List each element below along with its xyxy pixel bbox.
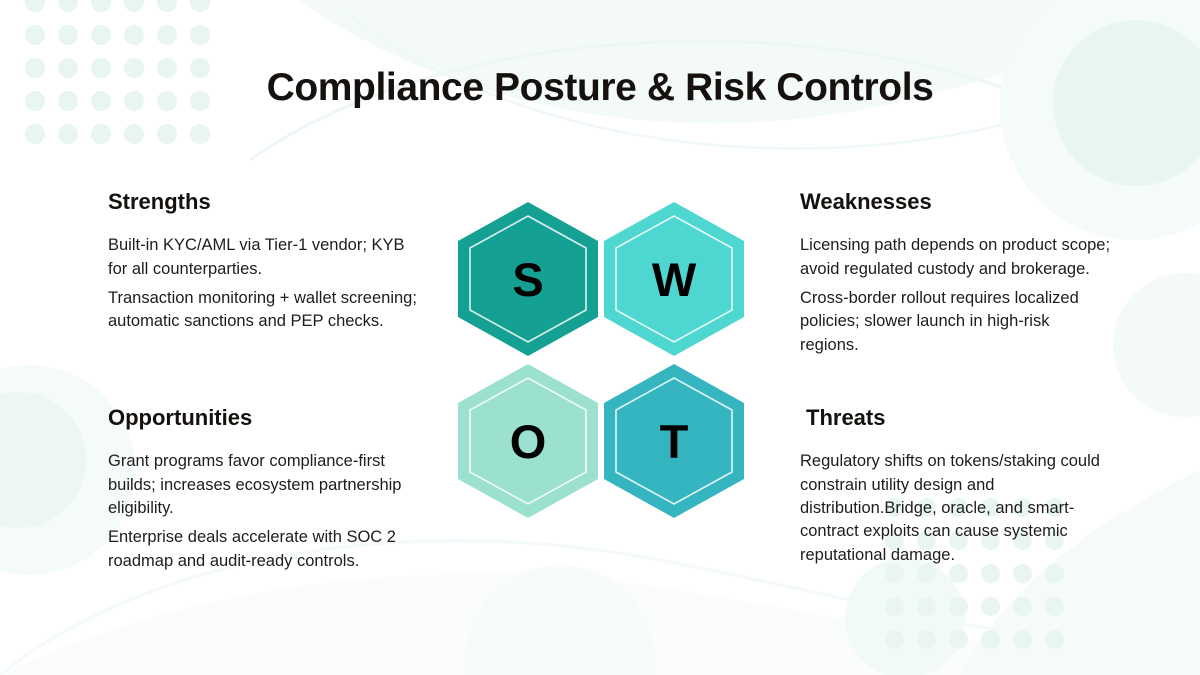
- decor-dot: [981, 630, 1000, 649]
- hexagon-weaknesses[interactable]: W: [601, 200, 747, 358]
- decor-dot: [124, 124, 144, 144]
- decor-dot: [1045, 597, 1064, 616]
- quadrant-text-threats-1: Regulatory shifts on tokens/staking coul…: [800, 450, 1112, 567]
- quadrant-strengths: Strengths Built-in KYC/AML via Tier-1 ve…: [108, 190, 420, 334]
- decor-dot: [25, 124, 45, 144]
- decor-dot: [917, 630, 936, 649]
- hexagon-letter-weaknesses: W: [601, 200, 747, 358]
- page-title: Compliance Posture & Risk Controls: [0, 66, 1200, 110]
- hexagon-letter-strengths: S: [455, 200, 601, 358]
- decor-dot: [58, 124, 78, 144]
- decor-dot: [91, 25, 111, 45]
- decor-dot: [91, 124, 111, 144]
- decor-dot: [25, 25, 45, 45]
- quadrant-opportunities: Opportunities Grant programs favor compl…: [108, 406, 433, 573]
- quadrant-weaknesses: Weaknesses Licensing path depends on pro…: [800, 190, 1112, 357]
- decor-dot: [58, 25, 78, 45]
- quadrant-heading-opportunities: Opportunities: [108, 406, 433, 430]
- decor-dot: [885, 630, 904, 649]
- decor-dot: [190, 0, 210, 12]
- quadrant-text-opportunities-1: Grant programs favor compliance-first bu…: [108, 450, 433, 520]
- quadrant-text-strengths-2: Transaction monitoring + wallet screenin…: [108, 287, 420, 334]
- decor-circle-bottom-center: [465, 565, 655, 675]
- decor-dot: [1013, 630, 1032, 649]
- hexagon-opportunities[interactable]: O: [455, 362, 601, 520]
- decor-dot: [190, 124, 210, 144]
- quadrant-text-strengths-1: Built-in KYC/AML via Tier-1 vendor; KYB …: [108, 234, 420, 281]
- swot-hexagon-cluster: S W O T: [455, 200, 747, 520]
- decor-dot: [917, 597, 936, 616]
- decor-dot: [949, 597, 968, 616]
- hexagon-threats[interactable]: T: [601, 362, 747, 520]
- quadrant-threats: Threats Regulatory shifts on tokens/stak…: [800, 406, 1112, 567]
- quadrant-text-opportunities-2: Enterprise deals accelerate with SOC 2 r…: [108, 526, 433, 573]
- quadrant-heading-threats: Threats: [806, 406, 1112, 430]
- decor-dot: [1013, 597, 1032, 616]
- decor-dot: [157, 0, 177, 12]
- decor-dot: [981, 597, 1000, 616]
- decor-dot: [949, 630, 968, 649]
- decor-dot: [1045, 630, 1064, 649]
- slide-canvas: Compliance Posture & Risk Controls Stren…: [0, 0, 1200, 675]
- decor-dot: [124, 0, 144, 12]
- decor-dot: [157, 25, 177, 45]
- decor-circle-left: [0, 392, 86, 528]
- quadrant-text-weaknesses-2: Cross-border rollout requires localized …: [800, 287, 1112, 357]
- decor-dot: [190, 25, 210, 45]
- quadrant-heading-weaknesses: Weaknesses: [800, 190, 1112, 214]
- decor-dot: [885, 597, 904, 616]
- quadrant-text-weaknesses-1: Licensing path depends on product scope;…: [800, 234, 1112, 281]
- hexagon-letter-threats: T: [601, 362, 747, 520]
- decor-circle-right-mid: [1113, 273, 1200, 417]
- hexagon-strengths[interactable]: S: [455, 200, 601, 358]
- quadrant-heading-strengths: Strengths: [108, 190, 420, 214]
- decor-dot: [157, 124, 177, 144]
- decor-dot: [124, 25, 144, 45]
- decor-dot: [58, 0, 78, 12]
- decor-dot: [91, 0, 111, 12]
- decor-dot: [25, 0, 45, 12]
- hexagon-letter-opportunities: O: [455, 362, 601, 520]
